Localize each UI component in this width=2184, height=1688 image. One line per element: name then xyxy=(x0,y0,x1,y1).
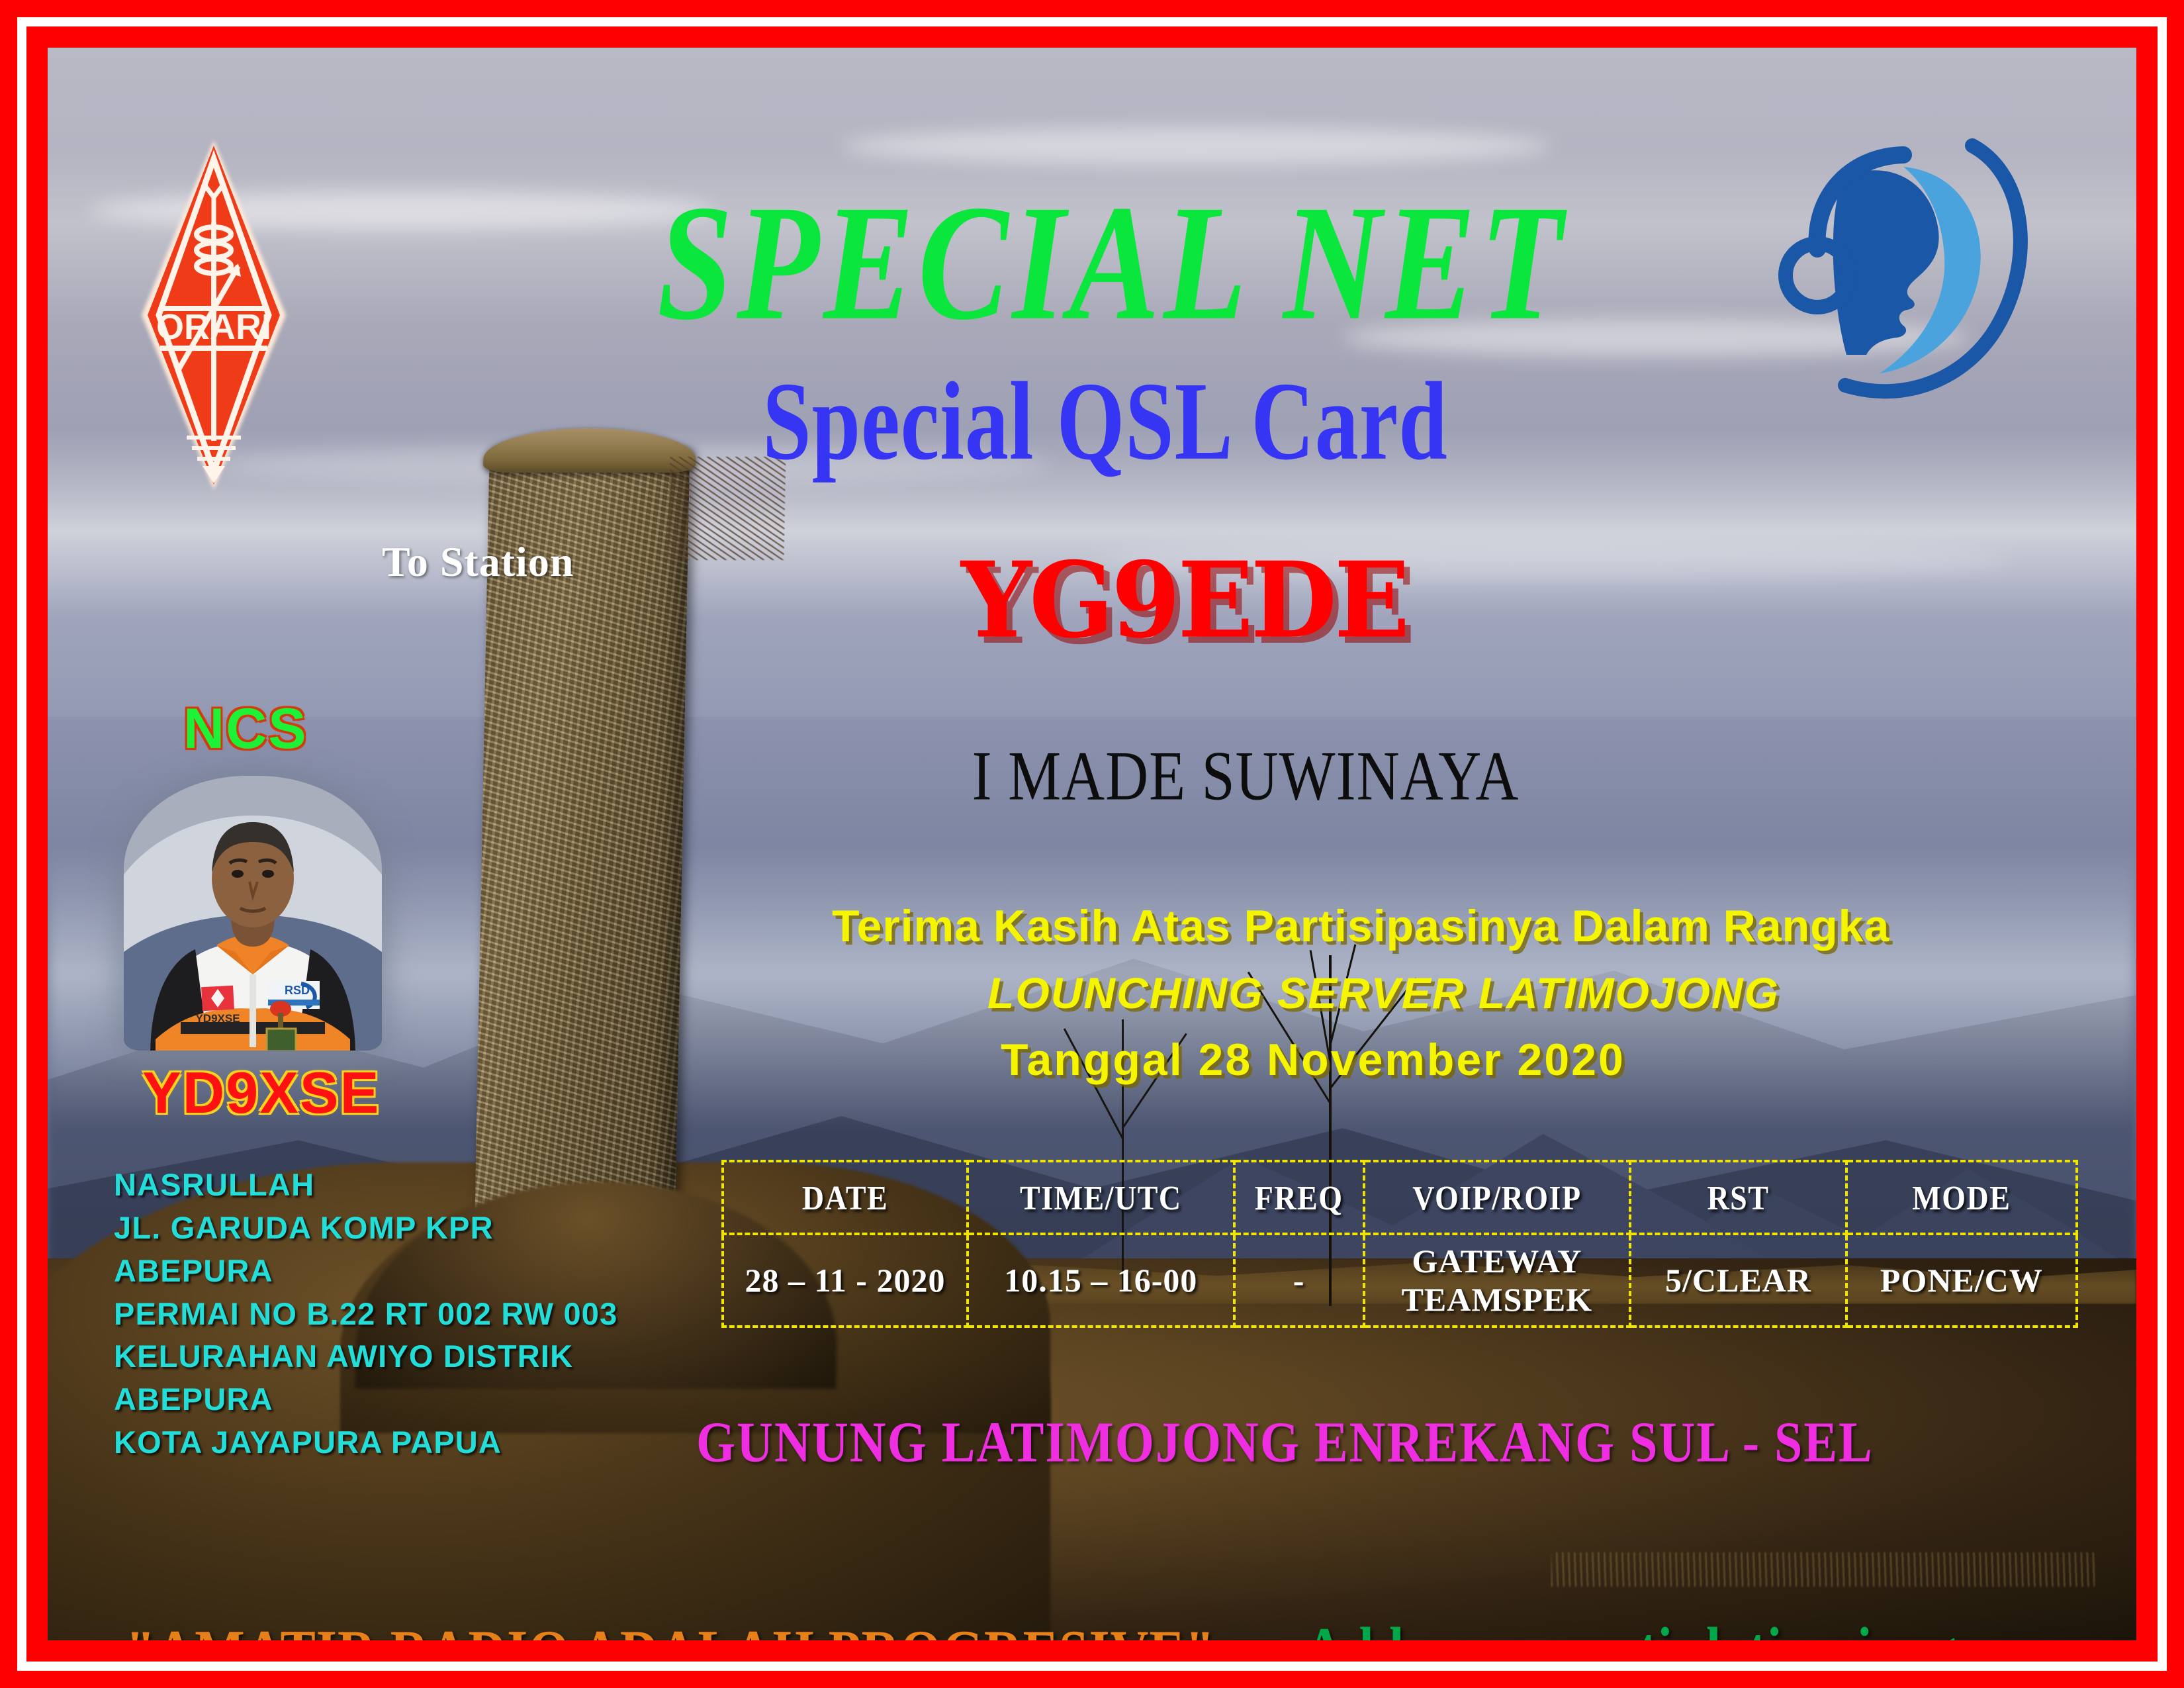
page-subtitle-special-qsl-card: Special QSL Card xyxy=(48,365,2136,477)
table-row: 28 – 11 - 2020 10.15 – 16-00 - GATEWAY T… xyxy=(723,1234,2077,1327)
address-line: ABEPURA xyxy=(114,1250,617,1293)
table-header-freq: FREQ xyxy=(1234,1156,1364,1238)
operator-name: I MADE SUWINAYA xyxy=(875,736,1616,817)
event-location: GUNUNG LATIMOJONG ENREKANG SUL - SEL xyxy=(696,1410,1874,1476)
cell-voip-roip-line2: TEAMSPEK xyxy=(1367,1280,1628,1319)
cloud-streak xyxy=(841,127,1551,165)
cell-freq: - xyxy=(1234,1234,1364,1327)
table-header-mode: MODE xyxy=(1846,1156,2077,1238)
footer-address-line: Address : amatir.latimojong.com xyxy=(1305,1615,2067,1640)
event-date-line: Tanggal 28 November 2020 xyxy=(1001,1034,1625,1086)
cell-mode: PONE/CW xyxy=(1846,1234,2077,1327)
table-header-time-utc: TIME/UTC xyxy=(968,1156,1234,1238)
table-header-date: DATE xyxy=(723,1156,968,1238)
address-line: NASRULLAH xyxy=(114,1164,617,1207)
dry-grass xyxy=(1551,1552,2095,1587)
qsl-card-outer-border: ORARI xyxy=(0,0,2184,1688)
footer-motto: "AMATIR RADIO ADALAH PROGRESIVE" xyxy=(126,1618,1215,1640)
qsl-card-inner-border: ORARI xyxy=(26,26,2158,1662)
address-line: PERMAI NO B.22 RT 002 RW 003 xyxy=(114,1293,617,1336)
address-line: JL. GARUDA KOMP KPR xyxy=(114,1207,617,1250)
ncs-role-label: NCS xyxy=(183,696,308,762)
table-header-row: DATE TIME/UTC FREQ VOIP/ROIP RST MODE xyxy=(723,1161,2077,1234)
address-line: KELURAHAN AWIYO DISTRIK xyxy=(114,1335,617,1378)
to-station-label: To Station xyxy=(382,538,574,586)
qsl-card-body: ORARI xyxy=(48,48,2136,1640)
cell-time-utc: 10.15 – 16-00 xyxy=(968,1234,1234,1327)
svg-text:YD9XSE: YD9XSE xyxy=(195,1012,240,1025)
cell-rst: 5/CLEAR xyxy=(1630,1234,1846,1327)
address-line: ABEPURA xyxy=(114,1378,617,1421)
ncs-callsign: YD9XSE xyxy=(142,1059,380,1127)
table-header-voip-roip: VOIP/ROIP xyxy=(1364,1156,1631,1238)
station-callsign: YG9EDE xyxy=(961,548,1407,653)
cell-voip-roip: GATEWAY TEAMSPEK xyxy=(1364,1234,1631,1327)
cell-voip-roip-line1: GATEWAY xyxy=(1367,1242,1628,1280)
event-title-line: LOUNCHING SERVER LATIMOJONG xyxy=(987,968,1780,1018)
qsl-card-white-gap: ORARI xyxy=(17,17,2167,1671)
station-address-block: NASRULLAH JL. GARUDA KOMP KPR ABEPURA PE… xyxy=(114,1164,617,1464)
avatar: YD9XSE RSD xyxy=(124,776,382,1051)
address-line: KOTA JAYAPURA PAPUA xyxy=(114,1421,617,1464)
event-thanks-line: Terima Kasih Atas Partisipasinya Dalam R… xyxy=(832,900,1889,952)
page-title-special-net: SPECIAL NET xyxy=(48,180,2136,346)
qso-details-table: DATE TIME/UTC FREQ VOIP/ROIP RST MODE 28… xyxy=(721,1160,2078,1328)
table-header-rst: RST xyxy=(1630,1156,1846,1238)
cell-date: 28 – 11 - 2020 xyxy=(723,1234,968,1327)
